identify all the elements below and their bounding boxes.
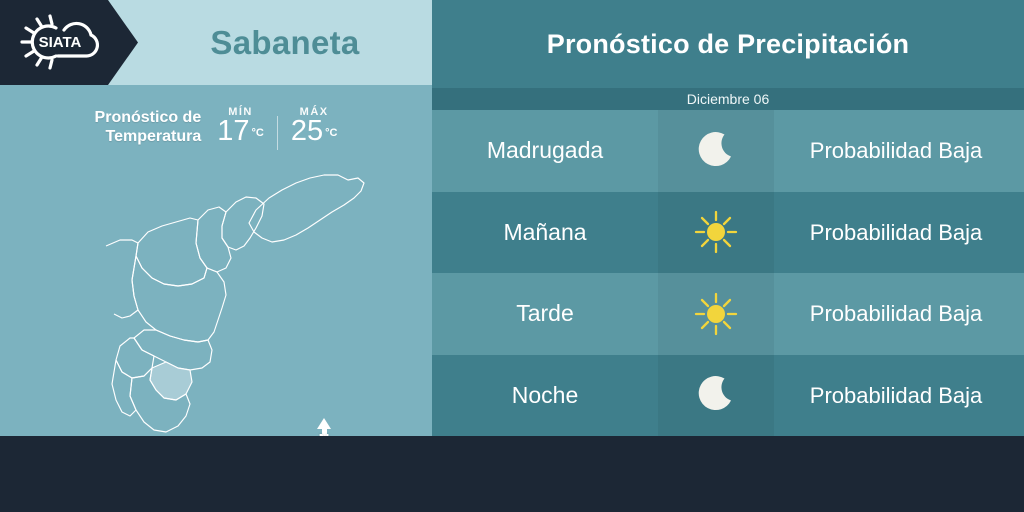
city-title: Sabaneta xyxy=(138,0,432,85)
left-header: SIATA Sabaneta xyxy=(0,0,432,85)
weather-icon-cell xyxy=(658,110,774,192)
period-label: Tarde xyxy=(432,273,658,355)
temperature-divider xyxy=(277,116,278,150)
forecast-row-tarde: Tarde xyxy=(432,273,1024,355)
map-svg xyxy=(86,150,386,435)
aburra-valley-map: N xyxy=(86,150,386,435)
left-panel: SIATA Sabaneta Pronóstico de Temperatura… xyxy=(0,0,432,436)
weather-icon-cell xyxy=(658,273,774,355)
temperature-max: MÁX 25 °C xyxy=(291,106,338,148)
probability-label: Probabilidad Baja xyxy=(774,110,1024,192)
temperature-min: MÍN 17 °C xyxy=(217,106,264,148)
weather-infographic: SIATA Sabaneta Pronóstico de Temperatura… xyxy=(0,0,1024,512)
sun-icon xyxy=(693,209,739,255)
probability-label: Probabilidad Baja xyxy=(774,273,1024,355)
sun-icon xyxy=(693,291,739,337)
temperature-min-unit: °C xyxy=(252,118,264,148)
temperature-min-value: 17 xyxy=(217,116,249,146)
forecast-table: Madrugada Probabilidad Baja Mañana xyxy=(432,110,1024,436)
period-label: Noche xyxy=(432,355,658,437)
temperature-section: Pronóstico de Temperatura MÍN 17 °C MÁX … xyxy=(0,96,432,158)
forecast-row-noche: Noche Probabilidad Baja xyxy=(432,355,1024,437)
right-panel: Pronóstico de Precipitación Diciembre 06… xyxy=(432,0,1024,436)
forecast-date: Diciembre 06 xyxy=(432,88,1024,110)
temperature-title-line2: Temperatura xyxy=(95,127,202,146)
temperature-max-unit: °C xyxy=(325,118,337,148)
forecast-row-madrugada: Madrugada Probabilidad Baja xyxy=(432,110,1024,192)
probability-label: Probabilidad Baja xyxy=(774,355,1024,437)
forecast-title: Pronóstico de Precipitación xyxy=(432,0,1024,88)
probability-label: Probabilidad Baja xyxy=(774,192,1024,274)
moon-icon xyxy=(693,128,739,174)
siata-logo-block: SIATA xyxy=(0,0,138,85)
forecast-row-manana: Mañana xyxy=(432,192,1024,274)
weather-icon-cell xyxy=(658,192,774,274)
period-label: Madrugada xyxy=(432,110,658,192)
temperature-title-line1: Pronóstico de xyxy=(95,108,202,127)
temperature-max-value: 25 xyxy=(291,116,323,146)
moon-icon xyxy=(693,372,739,418)
footer: @siatamedellin www.siata.gov.co Con el a… xyxy=(0,436,1024,512)
siata-logo-text: SIATA xyxy=(39,34,82,51)
weather-icon-cell xyxy=(658,355,774,437)
temperature-max-caption: MÁX xyxy=(300,106,329,118)
period-label: Mañana xyxy=(432,192,658,274)
temperature-min-caption: MÍN xyxy=(228,106,253,118)
temperature-title: Pronóstico de Temperatura xyxy=(95,108,202,146)
sun-cloud-icon: SIATA xyxy=(12,10,108,74)
